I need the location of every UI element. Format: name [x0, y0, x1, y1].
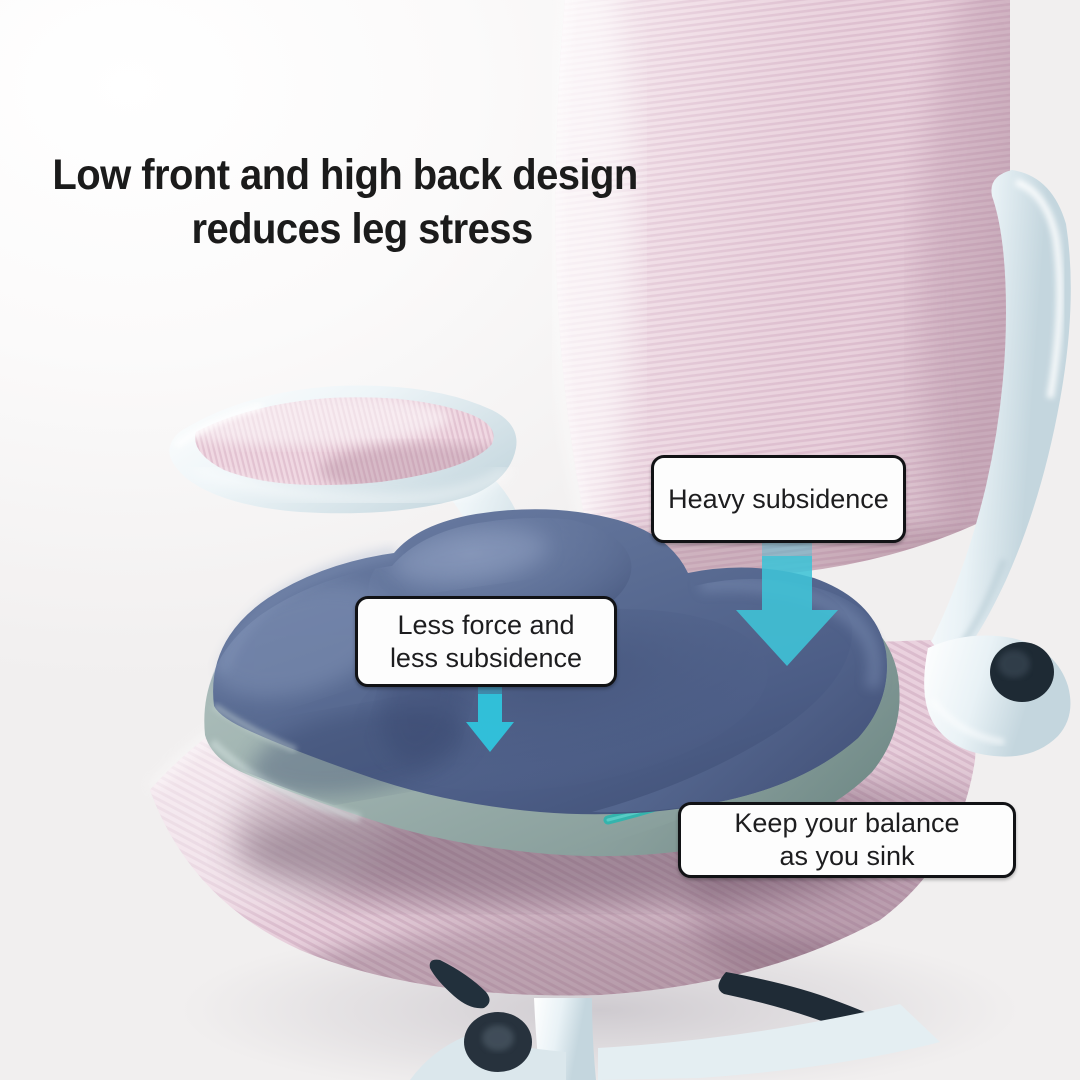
callout-heavy-subsidence: Heavy subsidence — [651, 455, 906, 543]
callout-less-force: Less force and less subsidence — [355, 596, 617, 687]
callout-keep-balance: Keep your balance as you sink — [678, 802, 1016, 878]
callout-keep-balance-line-1: Keep your balance — [734, 807, 959, 840]
callout-less-force-line-2: less subsidence — [390, 642, 582, 675]
callout-heavy-subsidence-text: Heavy subsidence — [668, 483, 889, 516]
callout-keep-balance-line-2: as you sink — [734, 840, 959, 873]
chair-and-cushion-scene — [0, 0, 1080, 1080]
callout-less-force-line-1: Less force and — [390, 609, 582, 642]
product-marketing-image: Low front and high back design reduces l… — [0, 0, 1080, 1080]
